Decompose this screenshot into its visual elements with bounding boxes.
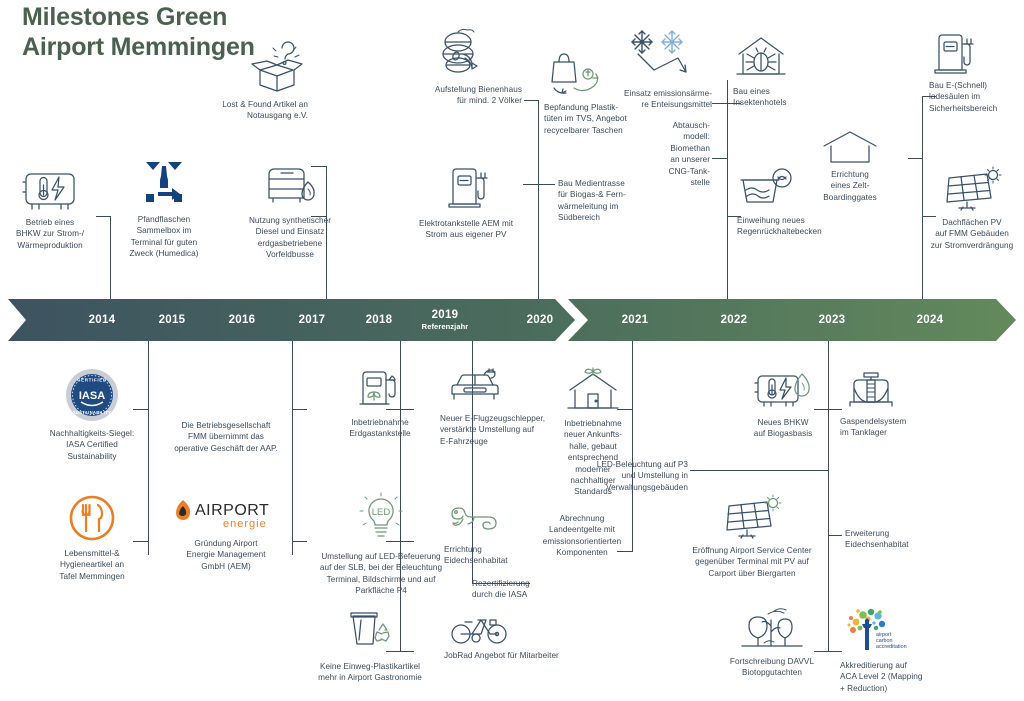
milestone-einweg-plastik[interactable]: Keine Einweg-Plastikartikel mehr in Airp…	[300, 608, 440, 684]
timeline-year-2015[interactable]: 2015	[138, 299, 206, 341]
open-box-question-icon	[176, 42, 308, 94]
milestone-service-center[interactable]: Eröffnung Airport Service Center gegenüb…	[678, 494, 826, 579]
milestone-insektenhotel[interactable]: Bau eines Insektenhotels	[733, 88, 825, 109]
year-label: 2023	[819, 314, 846, 326]
milestone-enteisung[interactable]: Einsatz emissionsärme- re Enteisungsmitt…	[612, 26, 712, 111]
connector-line-2018-h2	[523, 184, 539, 185]
connector-line-2014-h	[96, 216, 111, 217]
milestone-caption: Neues BHKW auf Biogasbasis	[740, 417, 826, 440]
year-label: 2019	[432, 309, 459, 321]
timeline-year-2017[interactable]: 2017	[278, 299, 346, 341]
svg-text:accreditation: accreditation	[876, 644, 907, 650]
milestone-lostfound[interactable]: Lost & Found Artikel an Notausgang e.V.	[176, 42, 308, 122]
milestone-bhkw-biogas[interactable]: Neues BHKW auf Biogasbasis	[740, 368, 826, 440]
milestone-jobrad[interactable]: JobRad Angebot für Mitarbeiter	[444, 612, 574, 661]
milestone-caption: Betrieb eines BHKW zur Strom-/ Wärmeprod…	[4, 217, 96, 251]
svg-text:IASA: IASA	[79, 390, 105, 402]
milestone-caption: Neuer E-Flugzeugschlepper, verstärkte Um…	[440, 413, 548, 447]
green-house-icon	[550, 368, 636, 414]
connector-line-b2015	[148, 341, 149, 555]
milestone-caption: Nachhaltigkeits-Siegel: IASA Certified S…	[42, 428, 142, 462]
milestone-rezertifizierung[interactable]: Rezertifizierung durch die IASA	[472, 578, 572, 601]
milestone-gaspendelsystem[interactable]: Gaspendelsystem im Tanklager	[840, 368, 940, 439]
connector-line-2014	[110, 216, 111, 300]
milestone-caption: Elektrotankstelle AEM mit Strom aus eige…	[408, 218, 524, 241]
airport-energie-logo: AIRPORT energie	[166, 496, 286, 532]
milestone-iasa-siegel[interactable]: CERTIFIED IASA SUSTAINABILITY Nachhaltig…	[42, 368, 142, 462]
milestone-caption: Umstellung auf LED-Befeuerung auf der SL…	[300, 551, 462, 597]
led-bulb-icon: LED	[300, 492, 462, 546]
recycle-bottle-icon	[118, 158, 210, 208]
tent-gate-icon	[800, 128, 900, 164]
charging-station-icon	[929, 30, 1021, 78]
milestone-caption: Eröffnung Airport Service Center gegenüb…	[678, 545, 826, 579]
biotope-trees-icon	[716, 606, 828, 652]
milestone-caption: Pfandflaschen Sammelbox im Terminal für …	[118, 214, 210, 260]
connector-line-2023-h1	[908, 158, 923, 159]
connector-line-b2023-h4	[828, 535, 842, 536]
milestone-caption: Inbetriebnahme Erdgastankstelle	[330, 417, 430, 440]
timeline-year-2019[interactable]: 2019 Referenzjahr	[400, 299, 490, 341]
milestone-davvl[interactable]: Fortschreibung DAVVL Biotopgutachten	[716, 606, 828, 679]
milestone-erweiterung-eide[interactable]: Erweiterung Eidechsenhabitat	[845, 528, 955, 551]
milestone-betriebsgesell[interactable]: Die Betriebsgesellschaft FMM übernimmt d…	[166, 420, 286, 454]
year-label: 2021	[622, 314, 649, 326]
generator-icon	[4, 168, 96, 212]
timeline-year-2024[interactable]: 2024	[896, 299, 964, 341]
milestone-bhkw[interactable]: Betrieb eines BHKW zur Strom-/ Wärmeprod…	[4, 168, 96, 251]
milestone-caption: Lost & Found Artikel an Notausgang e.V.	[176, 99, 308, 122]
connector-line-b2023	[828, 341, 829, 651]
aca-tree-logo: airport carbon accreditation	[844, 606, 950, 656]
svg-text:AIRPORT: AIRPORT	[195, 502, 269, 519]
connector-line-b2017	[292, 341, 293, 555]
milestone-caption: Errichtung Eidechsenhabitat	[444, 544, 540, 567]
milestone-caption: Bau E-(Schnell) ladesäulen im Sicherheit…	[929, 80, 1021, 114]
year-label: 2024	[917, 314, 944, 326]
milestone-caption: Gaspendelsystem im Tanklager	[840, 416, 940, 439]
timeline-year-2020[interactable]: 2020	[506, 299, 574, 341]
year-label: 2018	[366, 314, 393, 326]
milestone-zeltgate[interactable]: Errichtung eines Zelt- Boardinggates	[800, 128, 900, 203]
milestone-caption: Einsatz emissionsärme- re Enteisungsmitt…	[612, 88, 712, 111]
milestone-caption: Aufstellung Bienenhaus für mind. 2 Völke…	[400, 84, 522, 107]
milestone-caption: Gründung Airport Energie Management GmbH…	[166, 538, 286, 572]
milestone-caption: Nutzung synthetischer Diesel und Einsatz…	[237, 215, 343, 261]
milestone-caption: JobRad Angebot für Mitarbeiter	[444, 650, 574, 661]
year-label: 2016	[229, 314, 256, 326]
milestone-erdgastankstelle[interactable]: Inbetriebnahme Erdgastankstelle	[330, 368, 430, 440]
milestone-caption: Lebensmittel-& Hygieneartikel an Tafel M…	[42, 548, 142, 582]
tank-storage-icon	[844, 368, 940, 412]
connector-line-2021	[727, 80, 728, 300]
svg-text:SUSTAINABILITY: SUSTAINABILITY	[73, 410, 112, 415]
year-label: 2022	[721, 314, 748, 326]
connector-line-b2022-h1	[690, 470, 828, 471]
milestone-e-schlepper[interactable]: Neuer E-Flugzeugschlepper, verstärkte Um…	[440, 368, 548, 447]
year-label: 2020	[527, 314, 554, 326]
electric-car-icon	[444, 368, 548, 410]
timeline-year-2014[interactable]: 2014	[68, 299, 136, 341]
connector-line-2018	[538, 100, 539, 300]
timeline-year-2021[interactable]: 2021	[601, 299, 669, 341]
milestone-led-befeuerung[interactable]: LED Umstellung auf LED-Befeuerung auf de…	[300, 492, 462, 597]
beehive-icon	[400, 26, 522, 82]
year-label: 2015	[159, 314, 186, 326]
milestone-caption: Die Betriebsgesellschaft FMM übernimmt d…	[166, 420, 286, 454]
snowflake-arrow-icon	[612, 26, 712, 82]
milestone-pfandflaschen[interactable]: Pfandflaschen Sammelbox im Terminal für …	[118, 158, 210, 260]
milestone-caption: Fortschreibung DAVVL Biotopgutachten	[716, 656, 828, 679]
connector-line-2021-h1	[712, 103, 728, 104]
milestone-led-p3[interactable]: LED-Beleuchtung auf P3 und Umstellung in…	[558, 459, 688, 493]
milestone-eidechsenhabitat[interactable]: Errichtung Eidechsenhabitat	[444, 500, 540, 567]
milestone-synth-diesel[interactable]: Nutzung synthetischer Diesel und Einsatz…	[237, 164, 343, 261]
svg-text:LED: LED	[372, 507, 391, 518]
lizard-icon	[446, 500, 540, 540]
milestone-schnellladen[interactable]: Bau E-(Schnell) ladesäulen im Sicherheit…	[929, 84, 1021, 114]
year-label: 2017	[299, 314, 326, 326]
milestone-caption: Erweiterung Eidechsenhabitat	[845, 528, 955, 551]
bicycle-icon	[450, 612, 574, 646]
charging-station-icon	[408, 166, 524, 212]
infographic-canvas: Milestones Green Airport Memmingen	[0, 0, 1024, 701]
svg-text:energie: energie	[223, 518, 267, 530]
year-label: 2014	[89, 314, 116, 326]
connector-line-2018-h3	[539, 184, 555, 185]
connector-line-2021-h2	[712, 158, 728, 159]
milestone-caption: Abtausch- modell: Biomethan an unserer C…	[632, 120, 710, 188]
generator-flame-icon	[740, 368, 826, 412]
milestone-caption: Bau eines Insektenhotels	[733, 86, 825, 109]
milestone-tafel[interactable]: Lebensmittel-& Hygieneartikel an Tafel M…	[42, 494, 142, 582]
timeline-year-2016[interactable]: 2016	[208, 299, 276, 341]
milestone-caption: Keine Einweg-Plastikartikel mehr in Airp…	[300, 661, 440, 684]
recycle-cup-icon	[300, 608, 440, 656]
milestone-caption: Einweihung neues Regenrückhaltebecken	[737, 215, 835, 238]
milestone-caption: Errichtung eines Zelt- Boardinggates	[800, 169, 900, 203]
milestone-caption: LED-Beleuchtung auf P3 und Umstellung in…	[558, 459, 688, 493]
insect-hotel-icon	[733, 34, 825, 84]
connector-line-2018-h1	[524, 100, 539, 101]
milestone-dachflaechen-pv[interactable]: Dachflächen PV auf FMM Gebäuden zur Stro…	[922, 166, 1022, 251]
year-sublabel: Referenzjahr	[422, 322, 469, 331]
milestone-abtausch[interactable]: Abtausch- modell: Biomethan an unserer C…	[632, 120, 710, 188]
milestone-caption: Abrechnung Landeentgelte mit emissionsor…	[528, 513, 636, 559]
solar-panel-sun-icon	[678, 494, 826, 540]
timeline-year-2022[interactable]: 2022	[700, 299, 768, 341]
timeline-year-2023[interactable]: 2023	[798, 299, 866, 341]
milestone-caption: Rezertifizierung durch die IASA	[472, 578, 572, 601]
milestone-bienenhaus[interactable]: Aufstellung Bienenhaus für mind. 2 Völke…	[400, 26, 522, 107]
milestone-landeentgelte[interactable]: Abrechnung Landeentgelte mit emissionsor…	[528, 513, 636, 559]
milestone-aca-level2[interactable]: airport carbon accreditation Akkreditier…	[840, 606, 950, 694]
gas-pump-leaf-icon	[330, 368, 430, 412]
milestone-aem-gruendung[interactable]: AIRPORT energie Gründung Airport Energie…	[166, 496, 286, 572]
timeline-bar[interactable]: 2014 2015 2016 2017 2018 2019 Referenzja…	[8, 299, 1016, 341]
svg-text:CERTIFIED: CERTIFIED	[77, 378, 107, 383]
milestone-caption: Dachflächen PV auf FMM Gebäuden zur Stro…	[922, 217, 1022, 251]
iasa-seal-logo: CERTIFIED IASA SUSTAINABILITY	[42, 368, 142, 422]
solar-panel-sun-icon	[922, 166, 1022, 212]
milestone-caption: Akkreditierung auf ACA Level 2 (Mapping …	[840, 660, 950, 694]
bus-flame-icon	[237, 164, 343, 210]
cutlery-circle-icon	[42, 494, 142, 542]
connector-line-b2017-h1	[292, 409, 307, 410]
milestone-elektrotank[interactable]: Elektrotankstelle AEM mit Strom aus eige…	[408, 166, 524, 241]
